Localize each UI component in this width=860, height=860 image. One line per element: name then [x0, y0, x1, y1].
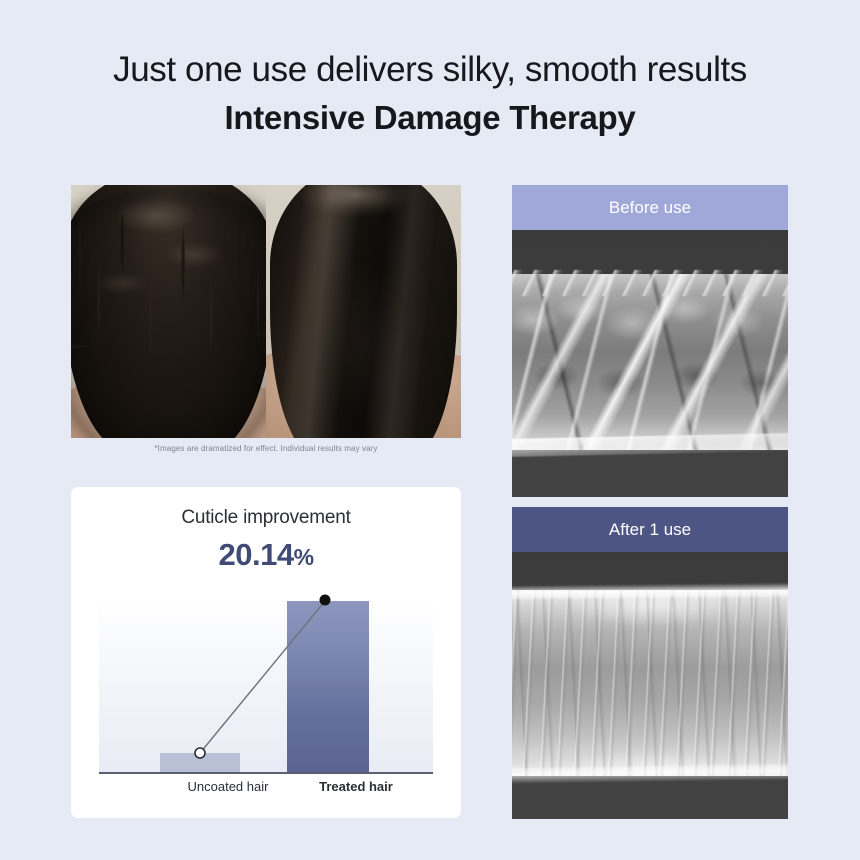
frizz-strands — [71, 185, 266, 438]
sem-image-after — [512, 552, 788, 819]
cuticle-edge-top — [512, 582, 788, 599]
before-after-photo-panel — [71, 185, 461, 438]
headline-line-1: Just one use delivers silky, smooth resu… — [0, 48, 860, 92]
cuticle-scales-lifted — [512, 274, 788, 450]
chart-plot-area: Uncoated hair Treated hair — [71, 487, 461, 818]
tick-label-uncoated-hair: Uncoated hair — [158, 779, 298, 794]
photo-after-smooth-hair — [266, 185, 461, 438]
sem-label-after: After 1 use — [512, 507, 788, 552]
page-headline: Just one use delivers silky, smooth resu… — [0, 48, 860, 140]
cuticle-scales-flat — [512, 590, 788, 776]
photo-before-damaged-hair — [71, 185, 266, 438]
hair-sheen-smooth — [270, 185, 457, 438]
marker-treated — [320, 595, 331, 606]
sem-panel-before: Before use — [512, 185, 788, 497]
improvement-connector — [71, 487, 461, 818]
tick-label-treated-hair: Treated hair — [286, 779, 426, 794]
photo-disclaimer-text: *Images are dramatized for effect. Indiv… — [71, 444, 461, 453]
chart-tick-labels: Uncoated hair Treated hair — [99, 779, 433, 801]
smooth-hair-mass — [270, 185, 457, 438]
marker-uncoated — [195, 748, 205, 758]
hair-shaft-treated — [512, 590, 788, 776]
cuticle-edge-bottom — [512, 764, 788, 784]
headline-line-2: Intensive Damage Therapy — [0, 96, 860, 140]
cuticle-improvement-chart-card: Cuticle improvement 20.14% Uncoated hair… — [71, 487, 461, 818]
chart-x-axis — [99, 772, 433, 774]
sem-label-before: Before use — [512, 185, 788, 230]
sem-image-before — [512, 230, 788, 497]
sem-panel-after: After 1 use — [512, 507, 788, 819]
cuticle-edge-top — [512, 270, 788, 296]
hair-shaft-damaged — [512, 274, 788, 450]
